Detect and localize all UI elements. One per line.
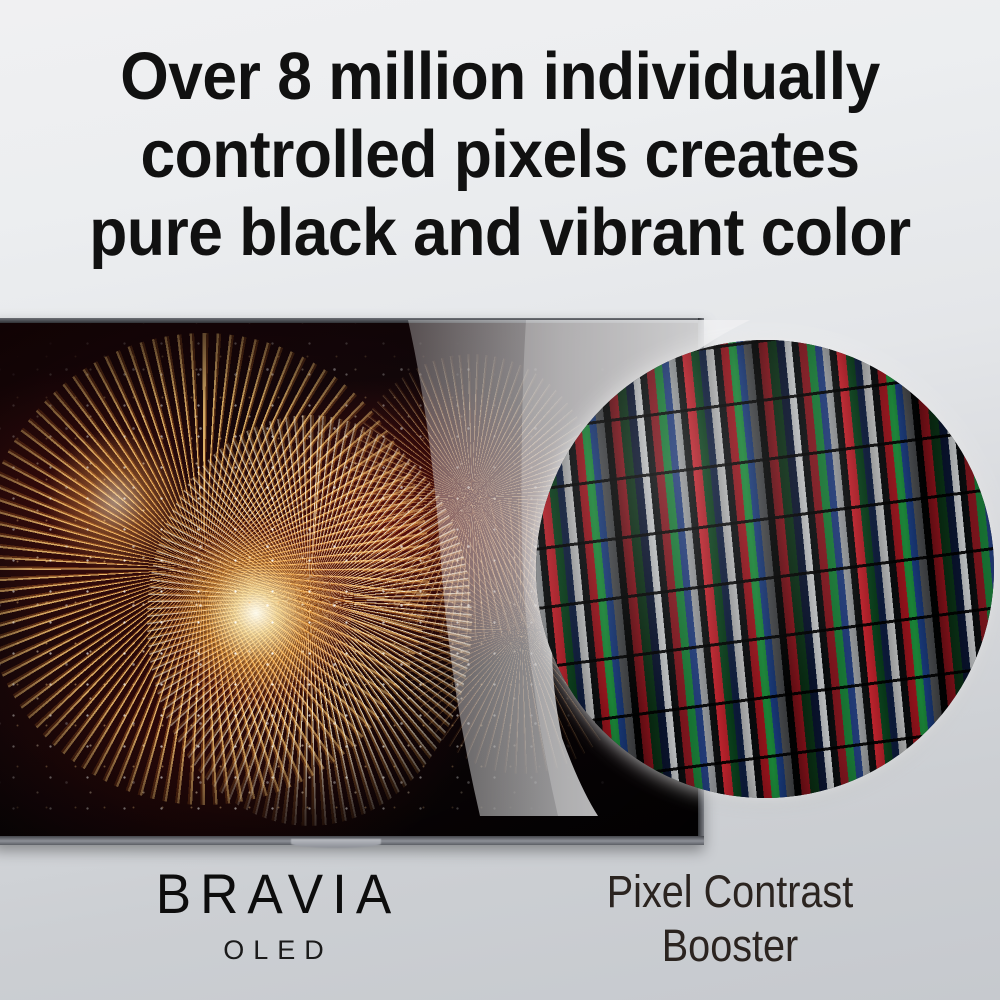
product-feature-banner: Over 8 million individually controlled p…	[0, 0, 1000, 1000]
brand-name: BRAVIA	[68, 865, 488, 926]
brand-subtitle: OLED	[68, 930, 488, 970]
feature-label-line-2: Booster	[545, 919, 915, 973]
tv-bezel-top	[0, 318, 704, 323]
lens-shading	[536, 340, 994, 798]
headline-line-1: Over 8 million individually	[35, 38, 965, 116]
brand-logo: BRAVIA OLED	[68, 866, 488, 970]
headline-line-3: pure black and vibrant color	[35, 194, 965, 272]
headline-line-2: controlled pixels creates	[35, 116, 965, 194]
tv-stand-foot	[291, 839, 381, 848]
pixel-magnifier-circle	[536, 340, 994, 798]
feature-label: Pixel Contrast Booster	[545, 865, 915, 973]
feature-label-line-1: Pixel Contrast	[545, 865, 915, 919]
page-title: Over 8 million individually controlled p…	[35, 38, 965, 272]
